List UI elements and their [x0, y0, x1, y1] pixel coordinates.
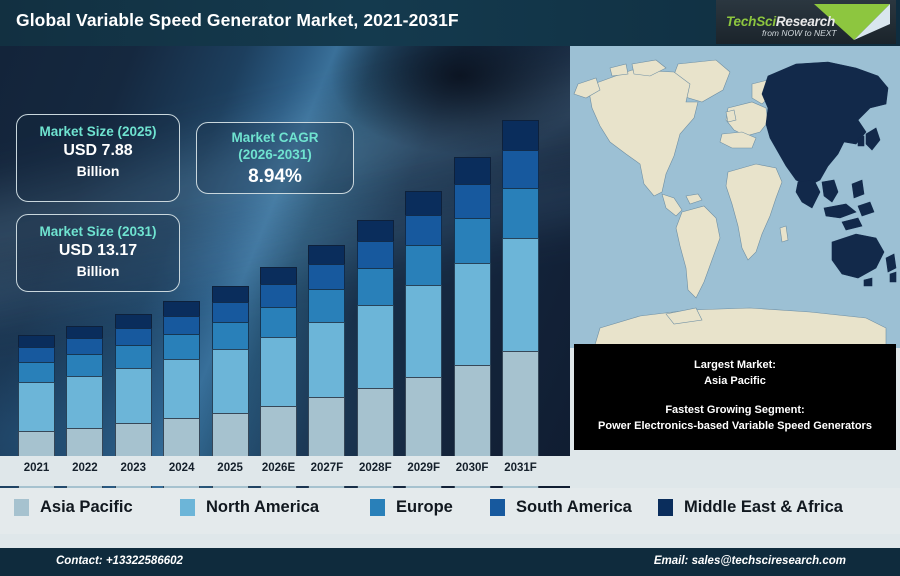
bar-segment-middle-east-africa[interactable]: [163, 301, 200, 316]
bar-segment-europe[interactable]: [454, 218, 491, 263]
bar-segment-north-america[interactable]: [502, 238, 539, 351]
axis-label-2026E: 2026E: [252, 462, 306, 474]
stat-value-market-size-2025: USD 7.88: [17, 141, 179, 162]
bar-segment-middle-east-africa[interactable]: [115, 314, 152, 328]
bar-segment-middle-east-africa[interactable]: [260, 267, 297, 285]
stat-unit-market-size-2031: Billion: [17, 262, 179, 280]
chart-legend: Asia PacificNorth AmericaEuropeSouth Ame…: [0, 488, 900, 534]
legend-item-europe[interactable]: Europe: [370, 498, 453, 517]
stat-value-cagr: 8.94%: [197, 164, 353, 190]
legend-swatch-icon: [370, 499, 385, 516]
bar-segment-middle-east-africa[interactable]: [18, 335, 55, 347]
callout-largest-market-label: Largest Market:: [574, 358, 896, 374]
callout-box: Largest Market: Asia Pacific Fastest Gro…: [574, 344, 896, 450]
bar-2031F[interactable]: [502, 120, 539, 488]
legend-swatch-icon: [180, 499, 195, 516]
legend-label: North America: [206, 498, 319, 517]
stat-label-market-size-2031: Market Size (2031): [17, 224, 179, 241]
bar-segment-middle-east-africa[interactable]: [502, 120, 539, 150]
axis-label-2022: 2022: [58, 462, 112, 474]
callout-fastest-segment-value: Power Electronics-based Variable Speed G…: [574, 419, 896, 435]
bar-segment-north-america[interactable]: [163, 359, 200, 418]
bar-segment-europe[interactable]: [502, 188, 539, 238]
bar-segment-europe[interactable]: [308, 289, 345, 322]
infographic-root: Global Variable Speed Generator Market, …: [0, 0, 900, 576]
bar-segment-europe[interactable]: [18, 362, 55, 382]
footer-contact[interactable]: Contact: +13322586602: [56, 555, 183, 567]
logo-text-part2: Research: [776, 14, 835, 29]
axis-label-2030F: 2030F: [445, 462, 499, 474]
world-map-svg: [570, 46, 900, 348]
stat-label-cagr-line2: (2026-2031): [197, 147, 353, 164]
page-title: Global Variable Speed Generator Market, …: [16, 10, 459, 31]
axis-label-2027F: 2027F: [300, 462, 354, 474]
legend-swatch-icon: [658, 499, 673, 516]
logo-text-part1: TechSci: [726, 14, 776, 29]
bar-segment-europe[interactable]: [260, 307, 297, 337]
legend-item-south-america[interactable]: South America: [490, 498, 632, 517]
bar-segment-south-america[interactable]: [212, 302, 249, 322]
axis-label-2021: 2021: [10, 462, 64, 474]
logo-tagline: from NOW to NEXT: [762, 28, 837, 38]
bar-segment-middle-east-africa[interactable]: [405, 191, 442, 215]
bar-segment-north-america[interactable]: [212, 349, 249, 413]
legend-label: Europe: [396, 498, 453, 517]
bar-2026E[interactable]: [260, 267, 297, 488]
bar-2030F[interactable]: [454, 157, 491, 488]
bar-segment-south-america[interactable]: [357, 241, 394, 268]
bar-segment-south-america[interactable]: [18, 347, 55, 362]
stat-label-market-size-2025: Market Size (2025): [17, 124, 179, 141]
bar-segment-south-america[interactable]: [260, 284, 297, 306]
footer-bar: Contact: +13322586602 Email: sales@techs…: [0, 548, 900, 576]
bar-segment-europe[interactable]: [115, 345, 152, 368]
bar-segment-north-america[interactable]: [18, 382, 55, 431]
bar-segment-europe[interactable]: [405, 245, 442, 285]
bar-segment-south-america[interactable]: [308, 264, 345, 289]
legend-label: Middle East & Africa: [684, 498, 843, 517]
legend-swatch-icon: [14, 499, 29, 516]
axis-label-2031F: 2031F: [494, 462, 548, 474]
stat-value-market-size-2031: USD 13.17: [17, 241, 179, 262]
axis-label-2024: 2024: [155, 462, 209, 474]
bar-2029F[interactable]: [405, 191, 442, 488]
stat-unit-market-size-2025: Billion: [17, 162, 179, 180]
bar-segment-south-america[interactable]: [405, 215, 442, 245]
bar-segment-europe[interactable]: [357, 268, 394, 304]
bar-segment-middle-east-africa[interactable]: [66, 326, 103, 339]
bar-segment-north-america[interactable]: [454, 263, 491, 365]
bar-segment-south-america[interactable]: [502, 150, 539, 188]
stat-box-market-size-2031: Market Size (2031) USD 13.17 Billion: [16, 214, 180, 292]
footer-email[interactable]: Email: sales@techsciresearch.com: [654, 555, 846, 567]
chart-x-axis: 202120222023202420252026E2027F2028F2029F…: [0, 456, 570, 486]
bar-segment-north-america[interactable]: [260, 337, 297, 406]
bar-segment-south-america[interactable]: [66, 338, 103, 354]
bar-segment-europe[interactable]: [212, 322, 249, 349]
bar-segment-europe[interactable]: [163, 334, 200, 359]
bar-segment-north-america[interactable]: [357, 305, 394, 388]
bar-2028F[interactable]: [357, 220, 394, 488]
bar-segment-middle-east-africa[interactable]: [308, 245, 345, 265]
legend-label: Asia Pacific: [40, 498, 133, 517]
legend-swatch-icon: [490, 499, 505, 516]
bar-segment-middle-east-africa[interactable]: [357, 220, 394, 242]
techsci-research-logo[interactable]: TechSciResearch from NOW to NEXT: [716, 0, 896, 44]
logo-wordmark: TechSciResearch: [726, 14, 835, 29]
world-map: [570, 46, 900, 348]
legend-item-middle-east-africa[interactable]: Middle East & Africa: [658, 498, 843, 517]
axis-label-2025: 2025: [203, 462, 257, 474]
stat-label-cagr-line1: Market CAGR: [197, 130, 353, 147]
callout-fastest-segment-label: Fastest Growing Segment:: [574, 403, 896, 419]
legend-label: South America: [516, 498, 632, 517]
stat-box-market-cagr: Market CAGR (2026-2031) 8.94%: [196, 122, 354, 194]
axis-label-2028F: 2028F: [348, 462, 402, 474]
axis-label-2029F: 2029F: [397, 462, 451, 474]
stat-box-market-size-2025: Market Size (2025) USD 7.88 Billion: [16, 114, 180, 202]
bar-segment-north-america[interactable]: [308, 322, 345, 398]
bar-segment-north-america[interactable]: [66, 376, 103, 428]
chart-panel: Market Size (2025) USD 7.88 Billion Mark…: [0, 46, 570, 488]
bar-segment-north-america[interactable]: [405, 285, 442, 377]
header-bar: Global Variable Speed Generator Market, …: [0, 0, 900, 46]
bar-segment-south-america[interactable]: [163, 316, 200, 335]
legend-item-asia-pacific[interactable]: Asia Pacific: [14, 498, 133, 517]
legend-item-north-america[interactable]: North America: [180, 498, 319, 517]
callout-spacer: [574, 389, 896, 403]
bar-2027F[interactable]: [308, 245, 345, 488]
bar-segment-europe[interactable]: [66, 354, 103, 375]
bar-segment-north-america[interactable]: [115, 368, 152, 423]
callout-largest-market-value: Asia Pacific: [574, 374, 896, 390]
bar-segment-south-america[interactable]: [115, 328, 152, 345]
bar-segment-middle-east-africa[interactable]: [454, 157, 491, 184]
bar-segment-middle-east-africa[interactable]: [212, 286, 249, 302]
axis-label-2023: 2023: [106, 462, 160, 474]
bar-segment-south-america[interactable]: [454, 184, 491, 218]
